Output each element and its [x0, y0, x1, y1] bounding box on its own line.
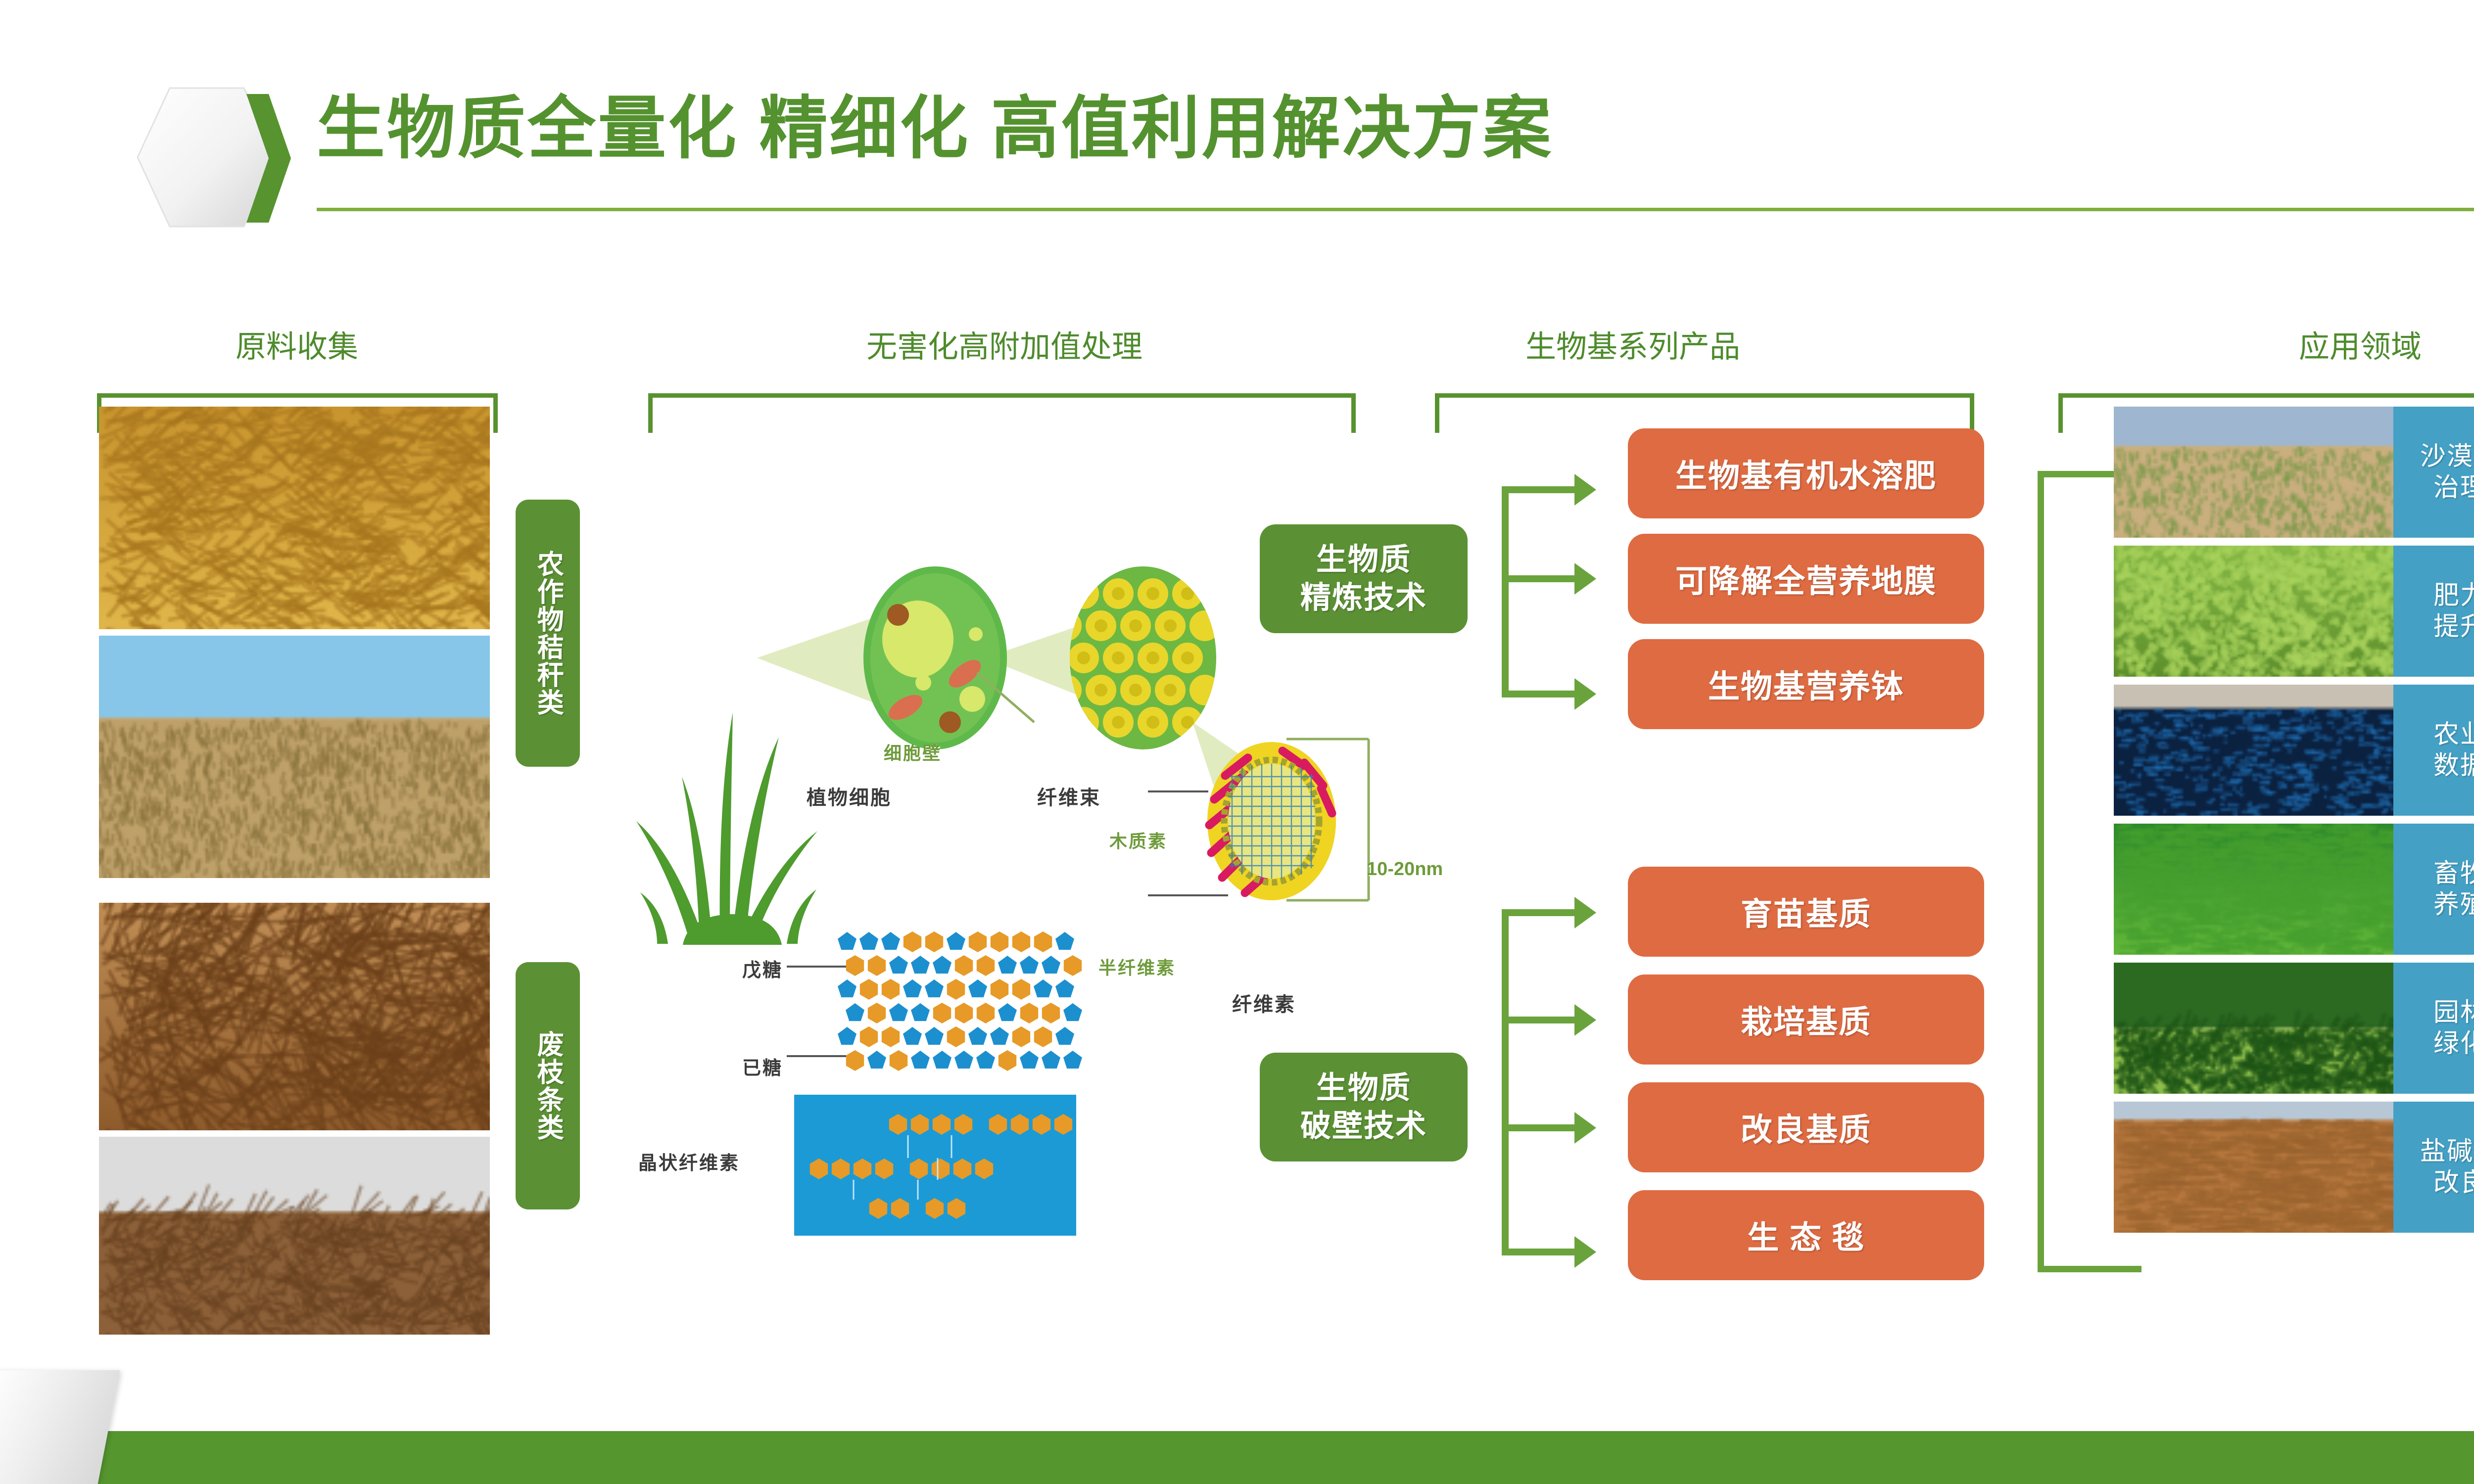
product-box-seedling-substrate[interactable]: 育苗基质	[1628, 867, 1984, 957]
arrow-g2-2	[1574, 1004, 1596, 1036]
connector-branch-g2-1	[1502, 909, 1576, 916]
label-hexose: 已糖	[742, 1053, 783, 1080]
sugar-leader-lines	[787, 955, 851, 1068]
title-underline	[317, 208, 2474, 211]
connector-trunk-group1	[1502, 490, 1509, 697]
sugar-chain-diagram	[836, 930, 1089, 1078]
label-cellulose: 纤维素	[1232, 988, 1296, 1017]
arrow-g1-1	[1574, 474, 1596, 506]
tech-label-line1: 生物质	[1316, 1069, 1411, 1108]
arrow-g2-4	[1574, 1236, 1596, 1268]
stage-header-applications: 应用领域	[2177, 322, 2474, 366]
feedstock-label-crop-straw: 农作物秸秆类	[516, 500, 580, 767]
app-label-desertification-control[interactable]: 沙漠化 治理	[2393, 407, 2474, 538]
label-fibril-scale: 10-20nm	[1367, 859, 1443, 880]
photo-saline-soil	[2114, 1102, 2393, 1233]
photo-data-center	[2114, 685, 2393, 816]
label-hemicellulose: 半纤维素	[1098, 954, 1176, 979]
arrow-g2-3	[1574, 1112, 1596, 1144]
app-label-agricultural-data[interactable]: 农业 数据	[2393, 685, 2474, 816]
connector-branch-g2-3	[1502, 1124, 1576, 1131]
connector-branch-g1-1	[1502, 486, 1576, 493]
tech-box-biomass-refining[interactable]: 生物质 精炼技术	[1260, 524, 1468, 633]
app-label-fertility-improvement[interactable]: 肥力 提升	[2393, 546, 2474, 677]
app-label-line2: 养殖	[2433, 889, 2474, 920]
tech-label-line2: 破壁技术	[1300, 1107, 1427, 1146]
app-label-line2: 改良	[2433, 1167, 2474, 1198]
label-fiber-bundle: 纤维束	[1037, 782, 1101, 810]
app-label-landscape-greening[interactable]: 园林 绿化	[2393, 963, 2474, 1094]
product-box-nutrition-pot[interactable]: 生物基营养钵	[1628, 639, 1984, 729]
photo-straw-bale-field	[99, 636, 490, 878]
product-box-ecological-blanket[interactable]: 生 态 毯	[1628, 1190, 1984, 1280]
footer-bar	[0, 1431, 2474, 1484]
app-label-line1: 沙漠化	[2420, 441, 2474, 472]
label-cell-wall: 细胞壁	[884, 739, 942, 765]
app-label-line1: 农业	[2433, 719, 2474, 750]
stage-header-processing: 无害化高附加值处理	[663, 322, 1346, 366]
photo-corn-stover	[99, 407, 490, 629]
app-label-line2: 提升	[2433, 611, 2474, 642]
photo-park-trees	[2114, 963, 2393, 1094]
app-label-line2: 数据	[2433, 750, 2474, 781]
photo-desert-control	[2114, 407, 2393, 538]
photo-pruned-branches	[99, 903, 490, 1130]
stage-bracket-processing	[648, 393, 1356, 433]
page-title: 生物质全量化 精细化 高值利用解决方案	[317, 92, 1553, 167]
app-label-saline-land-improvement[interactable]: 盐碱地 改良	[2393, 1102, 2474, 1233]
arrow-g1-2	[1574, 563, 1596, 595]
connector-branch-g1-2	[1502, 575, 1576, 582]
photo-grazing-sheep	[2114, 824, 2393, 955]
connector-branch-g1-3	[1502, 691, 1576, 697]
app-label-line1: 盐碱地	[2420, 1136, 2474, 1167]
photo-orchard-pruning	[99, 1137, 490, 1335]
stage-bracket-products	[1435, 393, 1974, 433]
tech-box-biomass-wall-breaking[interactable]: 生物质 破壁技术	[1260, 1053, 1468, 1161]
header-chevron-icon	[246, 94, 291, 223]
tech-label-line1: 生物质	[1316, 541, 1411, 579]
arrow-g1-3	[1574, 678, 1596, 710]
photo-cabbage-field	[2114, 546, 2393, 677]
label-crystalline-cellulose: 晶状纤维素	[638, 1148, 740, 1175]
connector-branch-g2-2	[1502, 1017, 1576, 1023]
label-lignin: 木质素	[1109, 827, 1167, 853]
app-label-line2: 治理	[2433, 472, 2474, 503]
app-label-livestock-breeding[interactable]: 畜牧 养殖	[2393, 824, 2474, 955]
app-label-line1: 畜牧	[2433, 858, 2474, 889]
product-box-cultivation-substrate[interactable]: 栽培基质	[1628, 974, 1984, 1065]
product-box-degradable-film[interactable]: 可降解全营养地膜	[1628, 534, 1984, 624]
stage-header-products: 生物基系列产品	[1425, 322, 1841, 366]
app-label-line1: 肥力	[2433, 580, 2474, 611]
app-label-line2: 绿化	[2433, 1028, 2474, 1059]
product-box-improvement-substrate[interactable]: 改良基质	[1628, 1082, 1984, 1172]
label-pentose: 戊糖	[742, 955, 783, 982]
feedstock-label-waste-branches: 废枝条类	[516, 962, 580, 1209]
app-label-line1: 园林	[2433, 997, 2474, 1028]
arrow-g2-1	[1574, 897, 1596, 928]
connector-trunk-group2	[1502, 909, 1509, 1255]
label-plant-cell: 植物细胞	[807, 782, 892, 810]
product-box-organic-fertilizer[interactable]: 生物基有机水溶肥	[1628, 428, 1984, 518]
tech-label-line2: 精炼技术	[1300, 579, 1427, 617]
connector-branch-g2-4	[1502, 1249, 1576, 1255]
stage-header-feedstock: 原料收集	[188, 322, 406, 366]
crystalline-cellulose-panel	[794, 1095, 1076, 1236]
